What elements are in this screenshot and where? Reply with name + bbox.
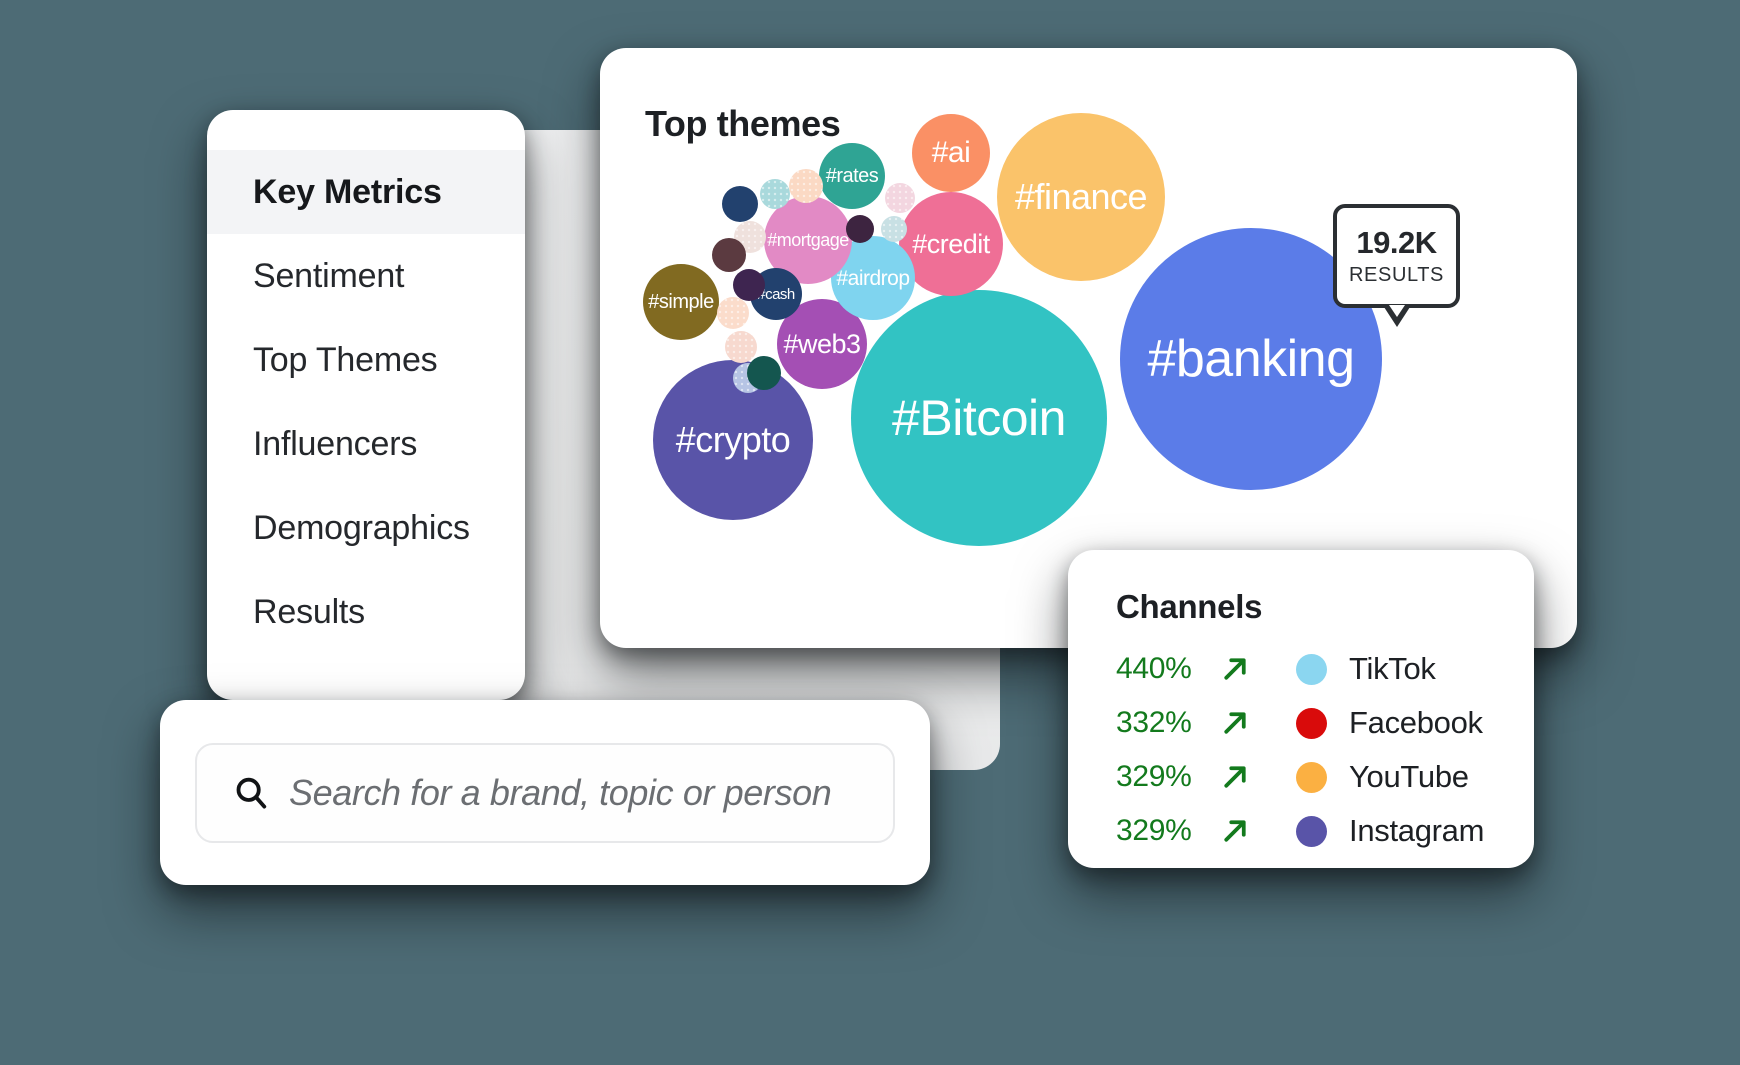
channel-color-dot [1296, 816, 1327, 847]
bubble-crypto[interactable]: #crypto [653, 360, 813, 520]
bubble-label: #banking [1147, 333, 1354, 385]
channel-percent: 332% [1116, 706, 1220, 740]
bubble-label: #finance [1015, 179, 1147, 215]
channel-row[interactable]: 440%TikTok [1116, 642, 1534, 696]
bubble-unlabeled[interactable] [789, 169, 823, 203]
bubble-label: #simple [648, 292, 713, 312]
channel-color-dot [1296, 762, 1327, 793]
sidebar-item-label: Results [253, 593, 365, 632]
results-count: 19.2K [1356, 225, 1436, 261]
sidebar-item-label: Demographics [253, 509, 470, 548]
bubble-unlabeled[interactable] [712, 238, 746, 272]
bubble-label: #mortgage [767, 231, 849, 249]
sidebar-item-key-metrics[interactable]: Key Metrics [207, 150, 525, 234]
app-mockup: Key MetricsSentimentTop ThemesInfluencer… [0, 0, 1740, 1065]
bubble-label: #airdrop [836, 268, 909, 289]
channel-name: TikTok [1349, 651, 1436, 687]
sidebar-item-label: Top Themes [253, 341, 437, 380]
bubble-unlabeled[interactable] [881, 216, 907, 242]
bubble-label: #credit [912, 231, 990, 258]
search-box[interactable]: Search for a brand, topic or person [195, 743, 895, 843]
channel-row[interactable]: 329%Instagram [1116, 804, 1534, 858]
trend-up-arrow-icon [1220, 708, 1268, 738]
channel-percent: 329% [1116, 814, 1220, 848]
trend-up-arrow-icon [1220, 762, 1268, 792]
bubble-unlabeled[interactable] [722, 186, 758, 222]
bubble-unlabeled[interactable] [717, 297, 749, 329]
bubble-ai[interactable]: #ai [912, 114, 990, 192]
channel-percent: 329% [1116, 760, 1220, 794]
bubble-unlabeled[interactable] [733, 269, 765, 301]
bubble-unlabeled[interactable] [846, 215, 874, 243]
bubble-label: #rates [826, 166, 879, 186]
results-tooltip: 19.2K RESULTS [1333, 204, 1460, 308]
channel-name: Instagram [1349, 813, 1484, 849]
sidebar-item-label: Key Metrics [253, 173, 442, 212]
channel-percent: 440% [1116, 652, 1220, 686]
sidebar-item-label: Sentiment [253, 257, 404, 296]
sidebar-nav: Key MetricsSentimentTop ThemesInfluencer… [207, 150, 525, 654]
channel-name: Facebook [1349, 705, 1483, 741]
bubble-unlabeled[interactable] [725, 331, 757, 363]
bubble-simple[interactable]: #simple [643, 264, 719, 340]
bubble-unlabeled[interactable] [885, 183, 915, 213]
channels-list: 440%TikTok332%Facebook329%YouTube329%Ins… [1116, 642, 1534, 858]
bubble-rates[interactable]: #rates [819, 143, 885, 209]
trend-up-arrow-icon [1220, 816, 1268, 846]
bubble-label: #crypto [676, 422, 791, 458]
sidebar-item-top-themes[interactable]: Top Themes [207, 318, 525, 402]
sidebar-item-demographics[interactable]: Demographics [207, 486, 525, 570]
channel-color-dot [1296, 654, 1327, 685]
sidebar-item-sentiment[interactable]: Sentiment [207, 234, 525, 318]
channel-row[interactable]: 332%Facebook [1116, 696, 1534, 750]
bubble-unlabeled[interactable] [760, 179, 790, 209]
search-icon [225, 774, 277, 812]
sidebar-item-results[interactable]: Results [207, 570, 525, 654]
search-input[interactable]: Search for a brand, topic or person [289, 772, 831, 814]
bubble-finance[interactable]: #finance [997, 113, 1165, 281]
bubble-label: #web3 [783, 331, 860, 358]
channels-title: Channels [1116, 588, 1534, 626]
bubble-bitcoin[interactable]: #Bitcoin [851, 290, 1107, 546]
bubble-label: #Bitcoin [892, 393, 1066, 443]
tooltip-pointer-fill-icon [1389, 305, 1405, 317]
bubble-unlabeled[interactable] [747, 356, 781, 390]
sidebar-item-label: Influencers [253, 425, 417, 464]
channel-color-dot [1296, 708, 1327, 739]
channel-row[interactable]: 329%YouTube [1116, 750, 1534, 804]
trend-up-arrow-icon [1220, 654, 1268, 684]
bubble-label: #ai [932, 138, 971, 168]
sidebar-item-influencers[interactable]: Influencers [207, 402, 525, 486]
sidebar-card: Key MetricsSentimentTop ThemesInfluencer… [207, 110, 525, 700]
search-card: Search for a brand, topic or person [160, 700, 930, 885]
channel-name: YouTube [1349, 759, 1469, 795]
results-label: RESULTS [1349, 264, 1444, 287]
channels-card: Channels 440%TikTok332%Facebook329%YouTu… [1068, 550, 1534, 868]
